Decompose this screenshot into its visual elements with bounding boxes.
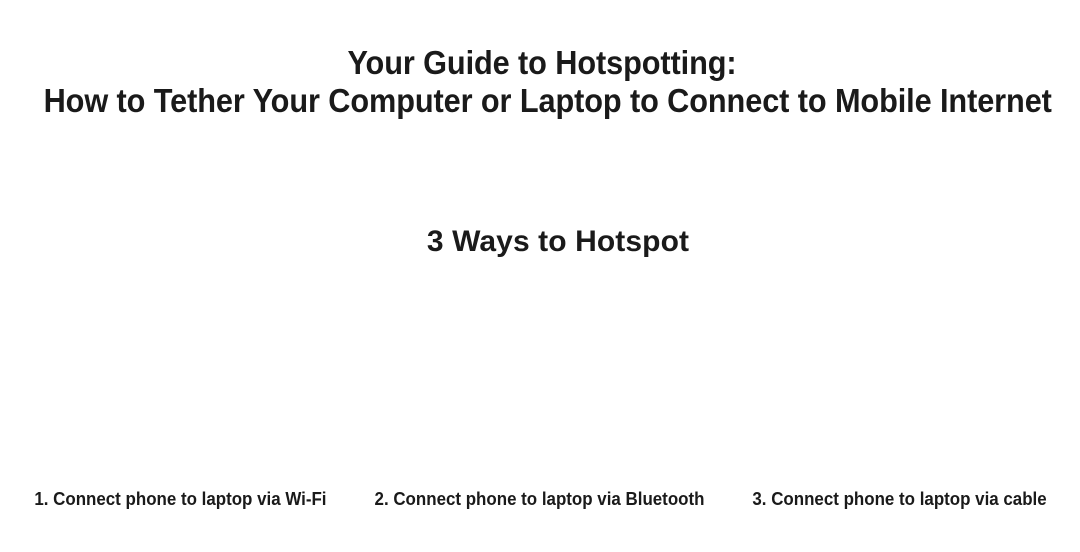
method-image-3 (720, 272, 1080, 478)
method-image-2 (360, 272, 720, 478)
method-caption-bluetooth: 2. Connect phone to laptop via Bluetooth (360, 488, 720, 514)
method-caption-wifi: 1. Connect phone to laptop via Wi-Fi (0, 488, 360, 514)
method-caption-cable-label: 3. Connect phone to laptop via cable (752, 488, 1046, 510)
page-title-line-1: Your Guide to Hotspotting: (42, 44, 1043, 82)
footer-whitespace (0, 514, 1080, 552)
method-caption-bluetooth-label: 2. Connect phone to laptop via Bluetooth (374, 488, 704, 510)
article-page: Your Guide to Hotspotting: How to Tether… (0, 0, 1080, 552)
method-caption-wifi-label: 1. Connect phone to laptop via Wi-Fi (34, 488, 326, 510)
method-caption-cable: 3. Connect phone to laptop via cable (720, 488, 1080, 514)
method-caption-row: 1. Connect phone to laptop via Wi-Fi 2. … (0, 488, 1080, 514)
method-image-1 (0, 272, 360, 478)
page-title-line-2: How to Tether Your Computer or Laptop to… (44, 82, 1043, 120)
method-illustrations (0, 272, 1080, 478)
page-title: Your Guide to Hotspotting: How to Tether… (0, 44, 1080, 120)
section-heading: 3 Ways to Hotspot (18, 224, 1080, 260)
